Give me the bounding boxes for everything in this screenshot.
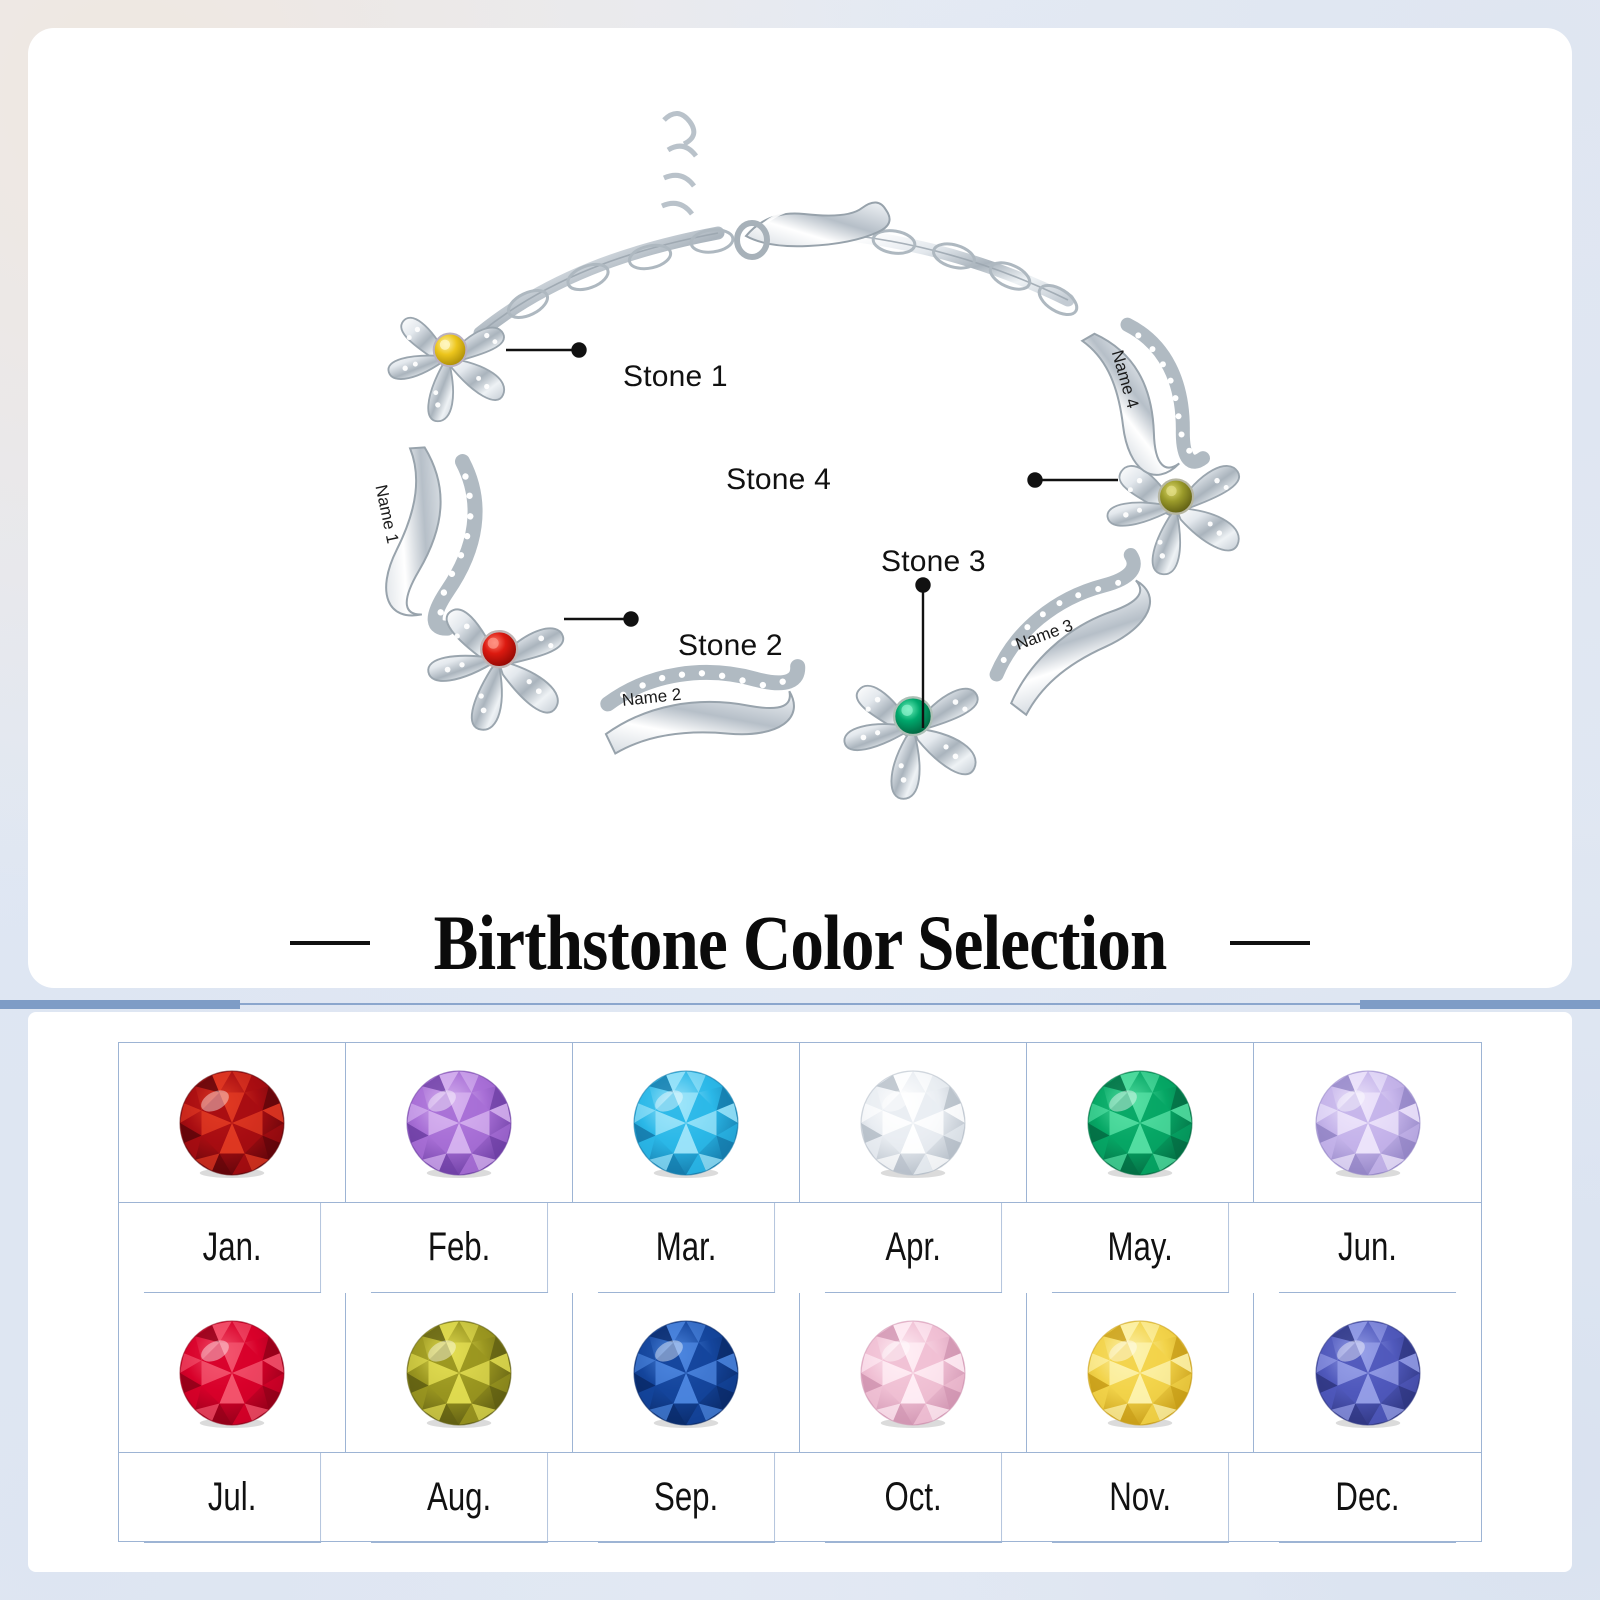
birthstone-label-jan: Jan.: [144, 1203, 321, 1293]
birthstone-cell-jun[interactable]: [1254, 1043, 1481, 1203]
tanzanite-gem: [1309, 1314, 1427, 1432]
divider-cap-left: [0, 1000, 240, 1009]
birthstone-cell-mar[interactable]: [573, 1043, 800, 1203]
birthstone-cell-dec[interactable]: [1254, 1293, 1481, 1453]
birthstone-label-nov: Nov.: [1052, 1453, 1229, 1543]
bracelet-illustration: Stone 1 Stone 2 Stone 3 Stone 4 Name 1 N…: [28, 28, 1572, 908]
birthstone-label-oct: Oct.: [825, 1453, 1002, 1543]
callout-stone-4: Stone 4: [726, 463, 831, 497]
callout-stone-2: Stone 2: [678, 629, 783, 663]
starfish-charm-2: [428, 609, 563, 729]
birthstone-label-jul: Jul.: [144, 1453, 321, 1543]
month-label: Sep.: [654, 1475, 718, 1520]
section-title-row: Birthstone Color Selection: [0, 898, 1600, 988]
diamond-gem: [854, 1064, 972, 1182]
engraved-link-4: [1082, 312, 1207, 484]
birthstone-label-dec: Dec.: [1279, 1453, 1456, 1543]
month-label: Jul.: [208, 1475, 257, 1520]
birthstone-slot-3: [894, 697, 932, 735]
product-infographic: Stone 1 Stone 2 Stone 3 Stone 4 Name 1 N…: [0, 0, 1600, 1600]
birthstone-label-aug: Aug.: [371, 1453, 548, 1543]
month-label: Feb.: [428, 1225, 490, 1270]
birthstone-label-apr: Apr.: [825, 1203, 1002, 1293]
callout-stone-3: Stone 3: [881, 545, 986, 579]
birthstone-cell-jul[interactable]: [119, 1293, 346, 1453]
title-rule-right: [1230, 941, 1310, 945]
birthstone-cell-jan[interactable]: [119, 1043, 346, 1203]
birthstone-label-jun: Jun.: [1279, 1203, 1456, 1293]
starfish-charm-3: [844, 686, 977, 799]
birthstone-cell-feb[interactable]: [346, 1043, 573, 1203]
aquamarine-gem: [627, 1064, 745, 1182]
title-rule-left: [290, 941, 370, 945]
peridot-gem: [400, 1314, 518, 1432]
birthstone-cell-sep[interactable]: [573, 1293, 800, 1453]
month-label: May.: [1107, 1225, 1172, 1270]
leader-dot-stone-3: [917, 579, 930, 592]
sapphire-gem: [627, 1314, 745, 1432]
chain-adjuster: [662, 113, 696, 214]
leader-dot-stone-1: [573, 344, 586, 357]
birthstone-cell-aug[interactable]: [346, 1293, 573, 1453]
engraved-link-3: [978, 553, 1172, 719]
ruby-gem: [173, 1314, 291, 1432]
alexandrite-gem: [1309, 1064, 1427, 1182]
month-label: Mar.: [656, 1225, 717, 1270]
month-label: Apr.: [885, 1225, 941, 1270]
citrine-gem: [1081, 1314, 1199, 1432]
month-label: Jan.: [203, 1225, 262, 1270]
leader-dot-stone-2: [625, 613, 638, 626]
birthstone-cell-nov[interactable]: [1027, 1293, 1254, 1453]
month-label: Dec.: [1335, 1475, 1399, 1520]
section-divider: [0, 1000, 1600, 1008]
garnet-gem: [173, 1064, 291, 1182]
birthstone-cell-oct[interactable]: [800, 1293, 1027, 1453]
birthstone-label-may: May.: [1052, 1203, 1229, 1293]
lobster-clasp: [737, 202, 890, 257]
page-title: Birthstone Color Selection: [430, 898, 1170, 988]
callout-stone-1: Stone 1: [623, 360, 728, 394]
month-label: Aug.: [427, 1475, 491, 1520]
birthstone-slot-1: [434, 334, 467, 367]
leader-dot-stone-4: [1029, 474, 1042, 487]
callout-leaders: [506, 344, 1118, 729]
birthstone-grid: Jan.Feb.Mar.Apr.May.Jun.: [118, 1042, 1482, 1542]
amethyst-gem: [400, 1064, 518, 1182]
month-label: Jun.: [1338, 1225, 1397, 1270]
starfish-charm-1: [388, 318, 504, 421]
birthstone-label-sep: Sep.: [598, 1453, 775, 1543]
month-label: Nov.: [1109, 1475, 1171, 1520]
birthstone-label-mar: Mar.: [598, 1203, 775, 1293]
divider-cap-right: [1360, 1000, 1600, 1009]
birthstone-label-feb: Feb.: [371, 1203, 548, 1293]
birthstone-cell-may[interactable]: [1027, 1043, 1254, 1203]
tourmaline-gem: [854, 1314, 972, 1432]
month-label: Oct.: [885, 1475, 942, 1520]
birthstone-slot-4: [1159, 480, 1193, 514]
emerald-gem: [1081, 1064, 1199, 1182]
birthstone-slot-2: [481, 631, 517, 667]
birthstone-cell-apr[interactable]: [800, 1043, 1027, 1203]
